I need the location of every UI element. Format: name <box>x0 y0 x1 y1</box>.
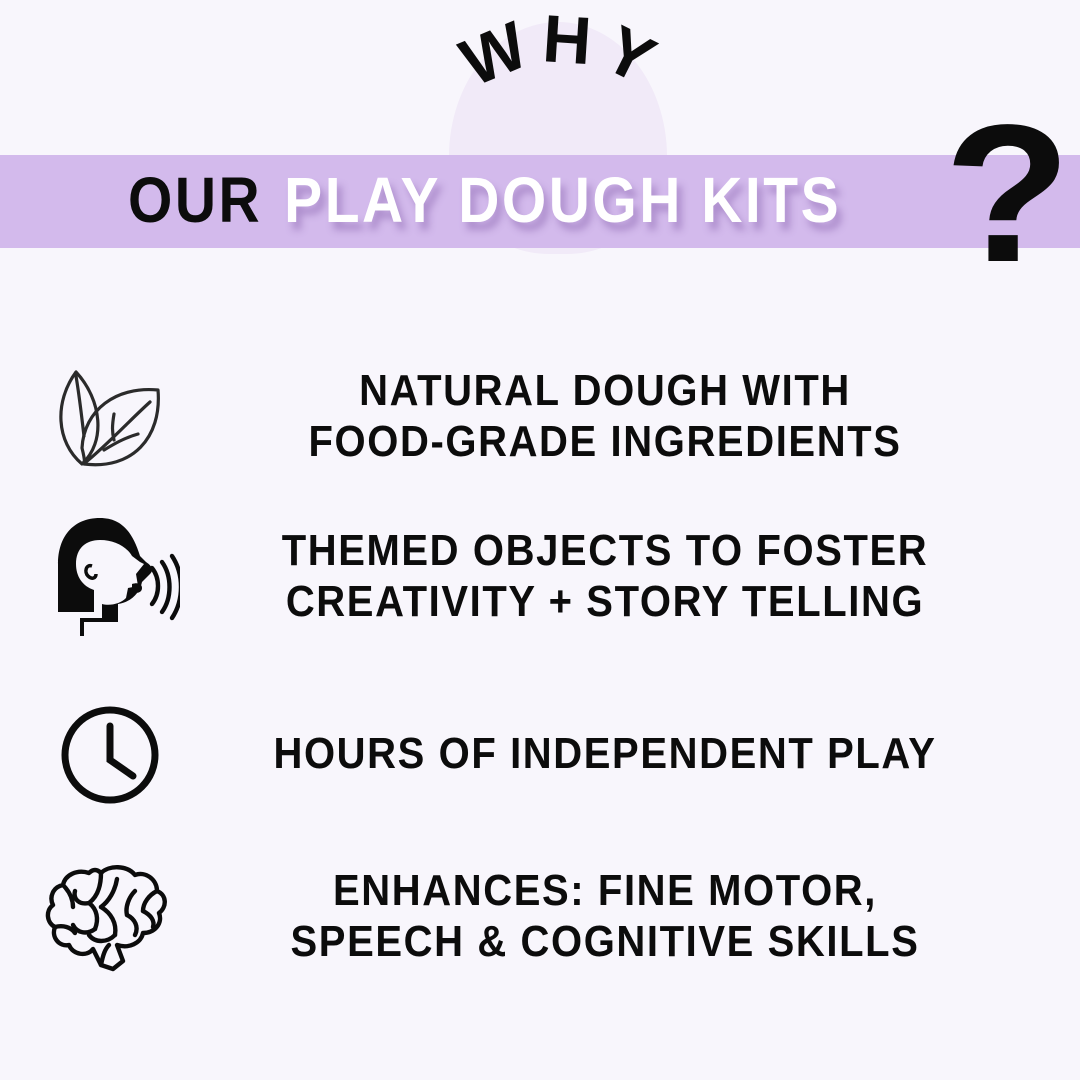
feature-text: ENHANCES: FINE MOTOR, SPEECH & COGNITIVE… <box>220 866 1080 968</box>
clock-icon <box>0 690 220 820</box>
title-band-text: OUR PLAY DOUGH KITS <box>0 155 1080 248</box>
feature-text: NATURAL DOUGH WITH FOOD-GRADE INGREDIENT… <box>220 366 1080 468</box>
svg-text:WHY: WHY <box>450 14 674 103</box>
speaking-head-icon <box>0 502 220 652</box>
title-word-our: OUR <box>128 170 262 234</box>
header: WHY OUR PLAY DOUGH KITS ? <box>0 0 1080 300</box>
feature-row: THEMED OBJECTS TO FOSTER CREATIVITY + ST… <box>0 502 1080 652</box>
feature-line: HOURS OF INDEPENDENT PLAY <box>220 727 990 783</box>
question-mark-glyph: ? <box>944 96 1071 292</box>
feature-text: THEMED OBJECTS TO FOSTER CREATIVITY + ST… <box>220 526 1080 628</box>
feature-line: CREATIVITY + STORY TELLING <box>220 574 990 630</box>
feature-row: ENHANCES: FINE MOTOR, SPEECH & COGNITIVE… <box>0 842 1080 992</box>
feature-text: HOURS OF INDEPENDENT PLAY <box>220 729 1080 780</box>
arched-why-heading: WHY <box>0 14 1080 164</box>
feature-list: NATURAL DOUGH WITH FOOD-GRADE INGREDIENT… <box>0 330 1080 1050</box>
feature-line: NATURAL DOUGH WITH <box>220 363 990 419</box>
feature-line: THEMED OBJECTS TO FOSTER <box>220 523 990 579</box>
why-text: WHY <box>450 14 674 103</box>
feature-line: ENHANCES: FINE MOTOR, <box>220 863 990 919</box>
feature-row: HOURS OF INDEPENDENT PLAY <box>0 690 1080 820</box>
feature-line: SPEECH & COGNITIVE SKILLS <box>220 914 990 970</box>
title-word-play-dough-kits: PLAY DOUGH KITS <box>284 170 841 234</box>
feature-row: NATURAL DOUGH WITH FOOD-GRADE INGREDIENT… <box>0 342 1080 492</box>
brain-icon <box>0 842 220 992</box>
poster-canvas: WHY OUR PLAY DOUGH KITS ? <box>0 0 1080 1080</box>
feature-line: FOOD-GRADE INGREDIENTS <box>220 414 990 470</box>
leaves-icon <box>0 342 220 492</box>
